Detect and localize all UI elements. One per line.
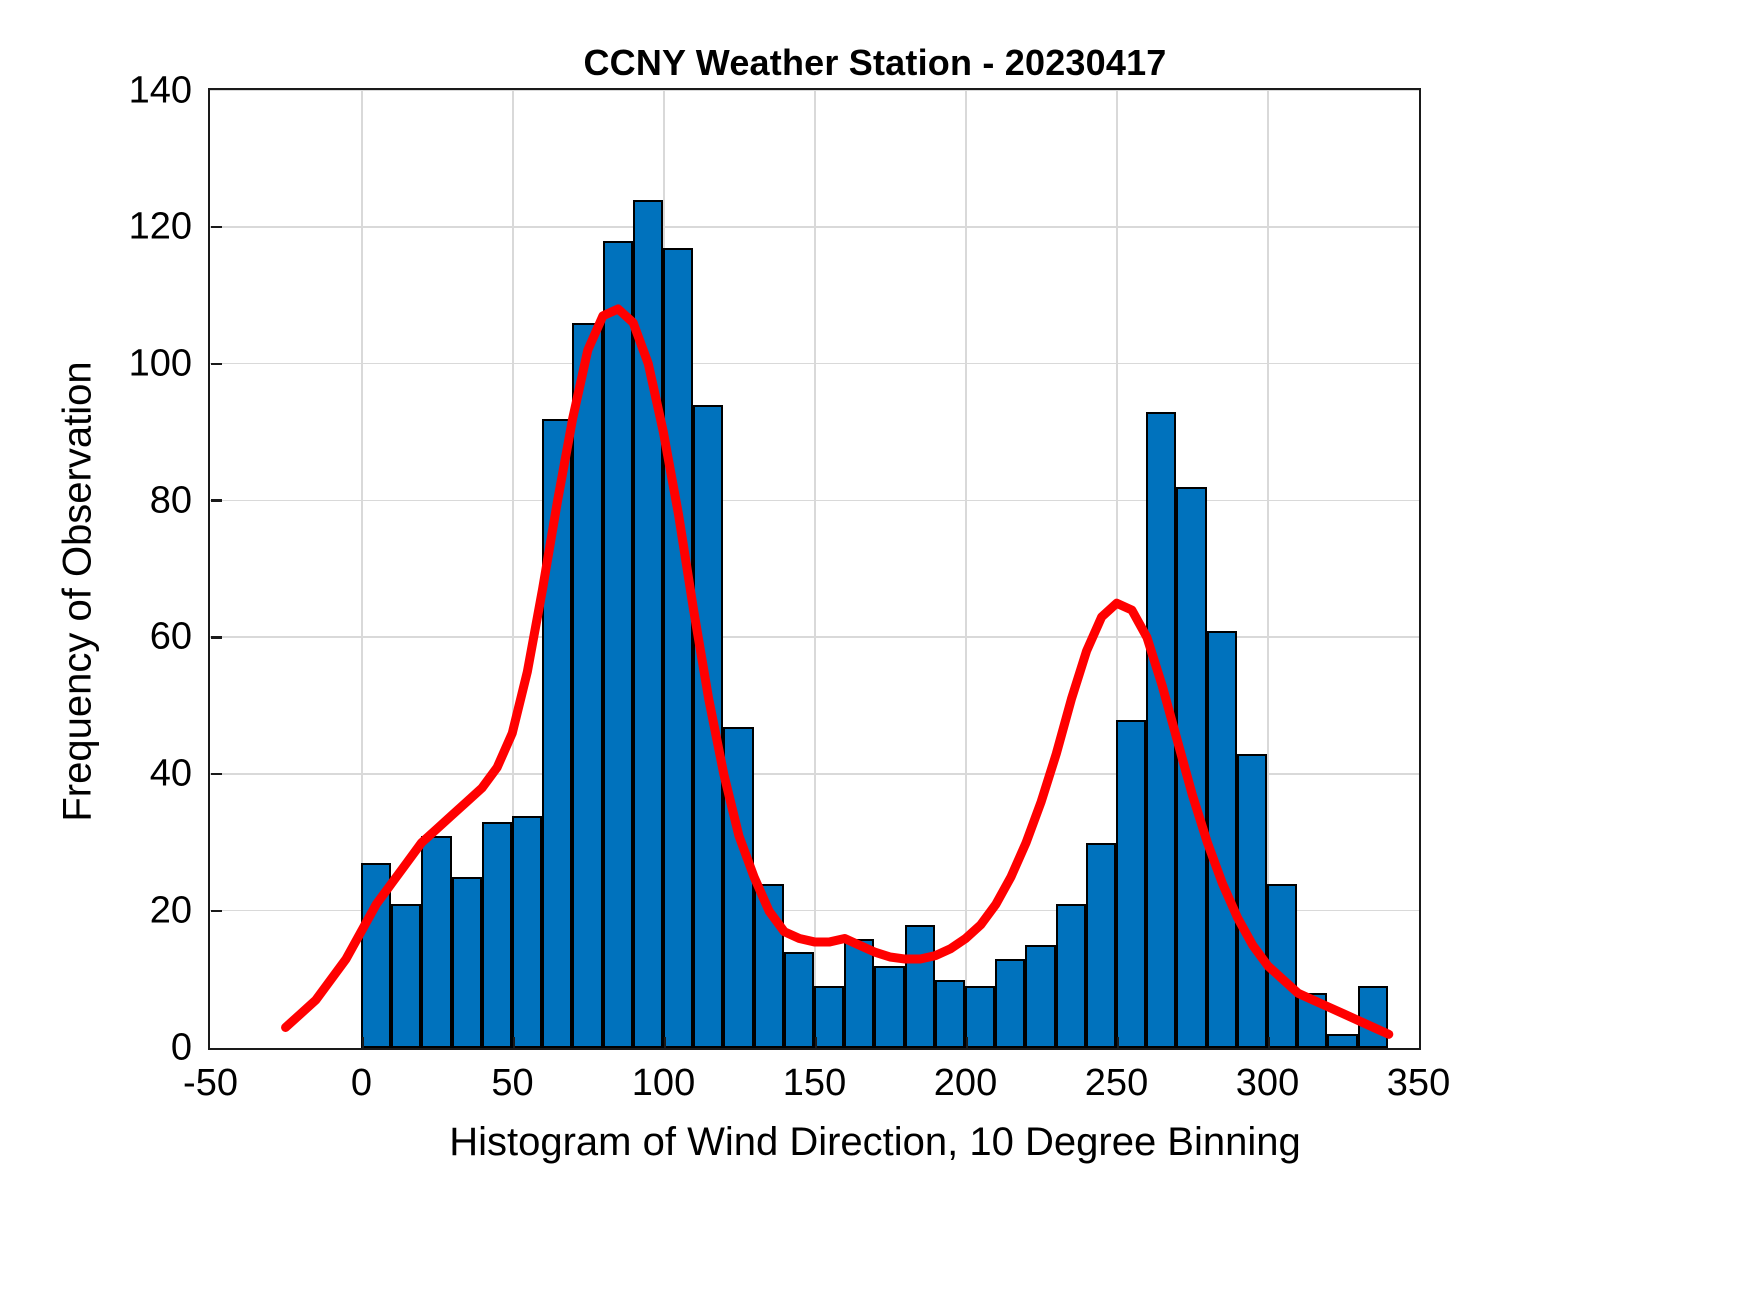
x-tick-mark (1268, 1037, 1271, 1048)
x-tick-mark (664, 1037, 667, 1048)
histogram-bar (995, 959, 1025, 1048)
histogram-bar (1297, 993, 1327, 1048)
histogram-bar (361, 863, 391, 1048)
histogram-bar (603, 241, 633, 1048)
histogram-bar (512, 816, 542, 1048)
histogram-bar (482, 822, 512, 1048)
x-tick-label: 250 (1085, 1062, 1148, 1105)
page-title: CCNY Weather Station - 20230417 (0, 42, 1750, 84)
histogram-bar (1176, 487, 1206, 1048)
histogram-bar (1086, 843, 1116, 1048)
x-axis-label: Histogram of Wind Direction, 10 Degree B… (0, 1120, 1750, 1165)
histogram-bar (693, 405, 723, 1048)
plot-area (208, 88, 1421, 1050)
histogram-bar (1207, 631, 1237, 1048)
y-tick-mark (211, 773, 222, 776)
histogram-bars (210, 90, 1419, 1048)
histogram-bar (452, 877, 482, 1048)
x-tick-label: 50 (491, 1062, 533, 1105)
histogram-bar (1056, 904, 1086, 1048)
x-tick-label: 350 (1387, 1062, 1450, 1105)
x-tick-mark (966, 1037, 969, 1048)
figure-canvas: CCNY Weather Station - 20230417 -5005010… (0, 0, 1750, 1313)
histogram-bar (663, 248, 693, 1048)
x-tick-mark (513, 1037, 516, 1048)
histogram-bar (814, 986, 844, 1048)
histogram-bar (542, 419, 572, 1048)
x-tick-label: 0 (351, 1062, 372, 1105)
x-tick-label: 150 (783, 1062, 846, 1105)
histogram-bar (784, 952, 814, 1048)
y-tick-label: 140 (72, 69, 192, 112)
histogram-bar (905, 925, 935, 1048)
y-tick-mark (211, 636, 222, 639)
y-tick-mark (211, 226, 222, 229)
x-tick-label: 300 (1236, 1062, 1299, 1105)
histogram-bar (723, 727, 753, 1048)
histogram-bar (874, 966, 904, 1048)
histogram-bar (1358, 986, 1388, 1048)
y-axis-label: Frequency of Observation (56, 111, 101, 1073)
histogram-bar (935, 980, 965, 1048)
histogram-bar (844, 939, 874, 1048)
x-tick-mark (362, 1037, 365, 1048)
histogram-bar (391, 904, 421, 1048)
histogram-bar (1237, 754, 1267, 1048)
histogram-bar (421, 836, 451, 1048)
histogram-bar (1267, 884, 1297, 1048)
histogram-bar (1116, 720, 1146, 1048)
x-tick-label: 100 (632, 1062, 695, 1105)
histogram-bar (1025, 945, 1055, 1048)
y-tick-mark (211, 499, 222, 502)
x-tick-label: 200 (934, 1062, 997, 1105)
histogram-bar (754, 884, 784, 1048)
x-tick-mark (1117, 1037, 1120, 1048)
x-tick-mark (815, 1037, 818, 1048)
histogram-bar (633, 200, 663, 1048)
histogram-bar (572, 323, 602, 1048)
histogram-bar (965, 986, 995, 1048)
y-tick-mark (211, 910, 222, 913)
histogram-bar (1146, 412, 1176, 1048)
histogram-bar (1327, 1034, 1357, 1048)
y-tick-mark (211, 363, 222, 366)
